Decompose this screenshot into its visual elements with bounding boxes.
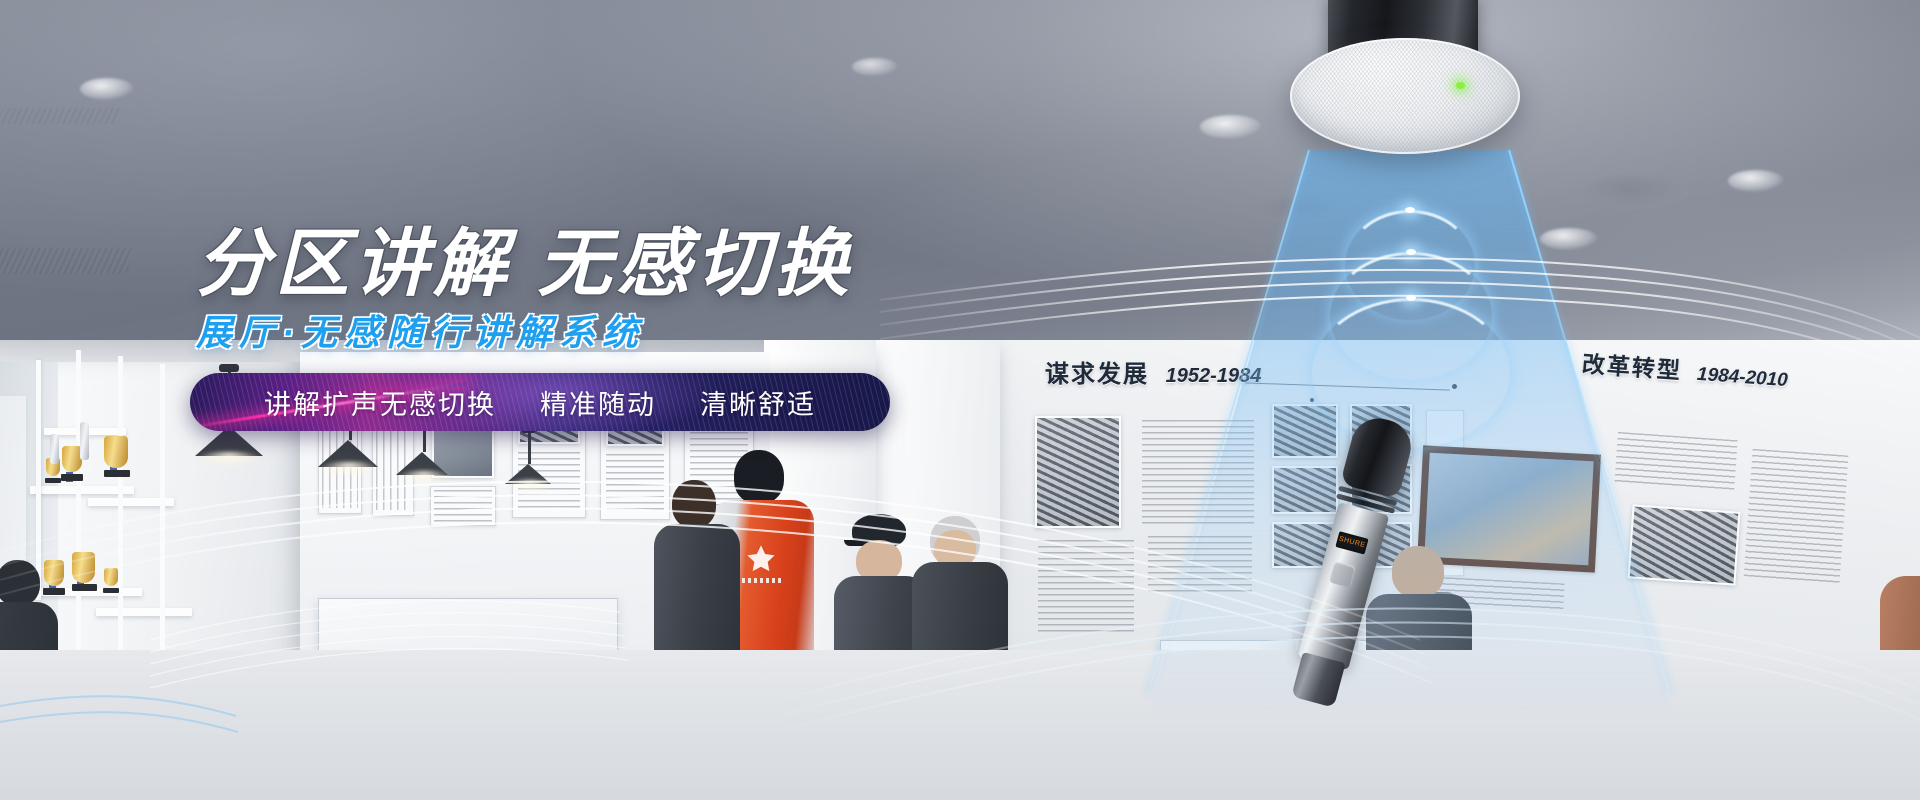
shelf-divider [36, 360, 41, 600]
speaker-status-led [1456, 82, 1465, 89]
exhibit-year-text: 1984-2010 [1696, 364, 1788, 391]
shelf-divider [160, 364, 165, 694]
sound-wave-highlight [1406, 249, 1416, 255]
exhibit-title-text: 改革转型 [1581, 351, 1683, 384]
recessed-ceiling-lamp [1540, 228, 1598, 250]
ceiling-grille [1580, 175, 1690, 209]
vest-logo-text [742, 578, 782, 583]
shelf-divider [76, 350, 81, 650]
exhibit-section-title-2: 改革转型 1984-2010 [1581, 345, 1789, 393]
recessed-ceiling-lamp [1728, 170, 1784, 192]
exhibit-text-block [1614, 432, 1737, 492]
feature-item-3: 清晰舒适 [700, 383, 816, 422]
volunteer-star-logo [744, 542, 778, 576]
exhibit-text-block [606, 454, 664, 512]
trophy-shelf [96, 608, 192, 616]
exhibit-text-block [434, 490, 492, 522]
exhibit-text-block [1038, 540, 1134, 636]
microphone-head [1340, 412, 1417, 499]
recessed-ceiling-lamp [80, 78, 134, 100]
exhibit-section-title-1: 谋求发展 1952-1984 [1045, 354, 1261, 389]
ceiling-vent [0, 108, 122, 124]
sound-wave-highlight [1406, 295, 1416, 301]
sound-wave-highlight [1405, 207, 1415, 213]
exhibit-title-text: 谋求发展 [1045, 361, 1149, 388]
trophy-figurine [80, 422, 89, 460]
ceiling-speaker [1290, 0, 1520, 172]
headline-block: 分区讲解 无感切换 展厅·无感随行讲解系统 [196, 222, 956, 356]
exhibit-photo [1628, 504, 1741, 585]
feature-item-1: 讲解扩声无感切换 [264, 383, 496, 422]
trophy-figurine [50, 434, 59, 464]
page-title: 分区讲解 无感切换 [196, 222, 956, 306]
promo-banner: 谋求发展 1952-1984 改革转型 1984-2010 [0, 0, 1920, 800]
feature-pill: 讲解扩声无感切换 精准随动 清晰舒适 [190, 373, 890, 431]
page-subtitle: 展厅·无感随行讲解系统 [196, 310, 956, 356]
feature-item-2: 精准随动 [540, 383, 656, 422]
exhibit-text-block [1744, 449, 1849, 585]
recessed-ceiling-lamp [1200, 115, 1262, 139]
speaker-rim [1290, 38, 1520, 154]
feature-list: 讲解扩声无感切换 精准随动 清晰舒适 [264, 383, 816, 422]
ceiling-vent [0, 248, 134, 274]
exhibit-photo [1035, 416, 1121, 528]
recessed-ceiling-lamp [852, 58, 898, 76]
